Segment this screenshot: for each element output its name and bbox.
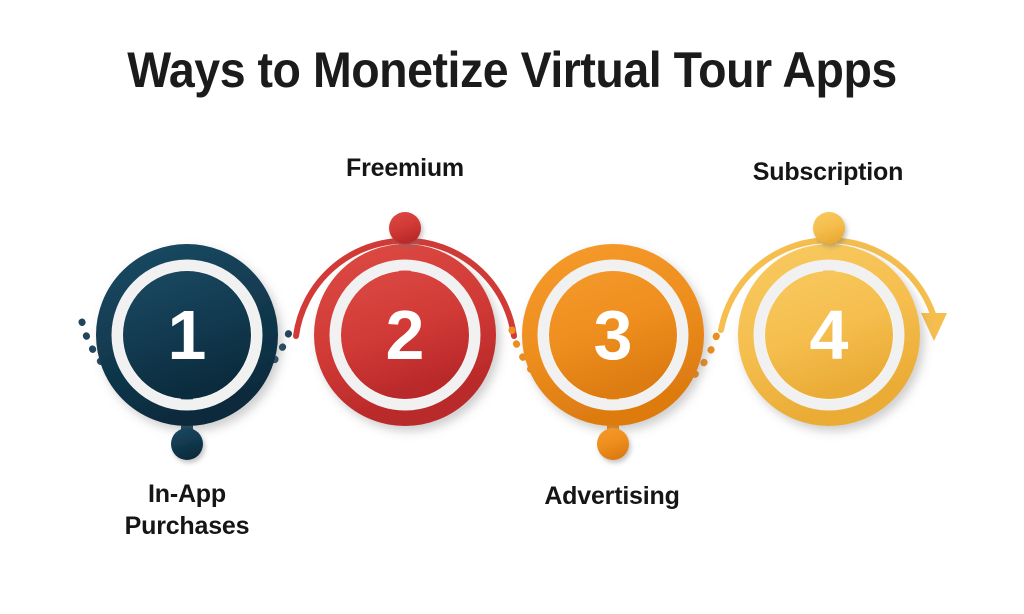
step-marker-dot-2 bbox=[389, 212, 421, 244]
step-number-1: 1 bbox=[168, 296, 207, 374]
step-number-4: 4 bbox=[810, 296, 849, 374]
step-circle-2[interactable]: 2 bbox=[322, 212, 488, 418]
infographic-canvas: Ways to Monetize Virtual Tour Apps bbox=[0, 0, 1024, 614]
step-label-freemium: Freemium bbox=[280, 152, 530, 184]
arrow-head-icon bbox=[921, 313, 947, 341]
step-marker-dot-1 bbox=[171, 428, 203, 460]
step-circle-4[interactable]: 4 bbox=[746, 212, 912, 418]
step-number-2: 2 bbox=[386, 296, 425, 374]
step-marker-dot-3 bbox=[597, 428, 629, 460]
step-label-in-app-purchases: In-App Purchases bbox=[62, 478, 312, 542]
step-number-3: 3 bbox=[594, 296, 633, 374]
step-circle-1[interactable]: 1 bbox=[104, 252, 270, 460]
step-label-advertising: Advertising bbox=[487, 480, 737, 512]
step-label-subscription: Subscription bbox=[703, 156, 953, 188]
step-circle-3[interactable]: 3 bbox=[530, 252, 696, 460]
step-marker-dot-4 bbox=[813, 212, 845, 244]
